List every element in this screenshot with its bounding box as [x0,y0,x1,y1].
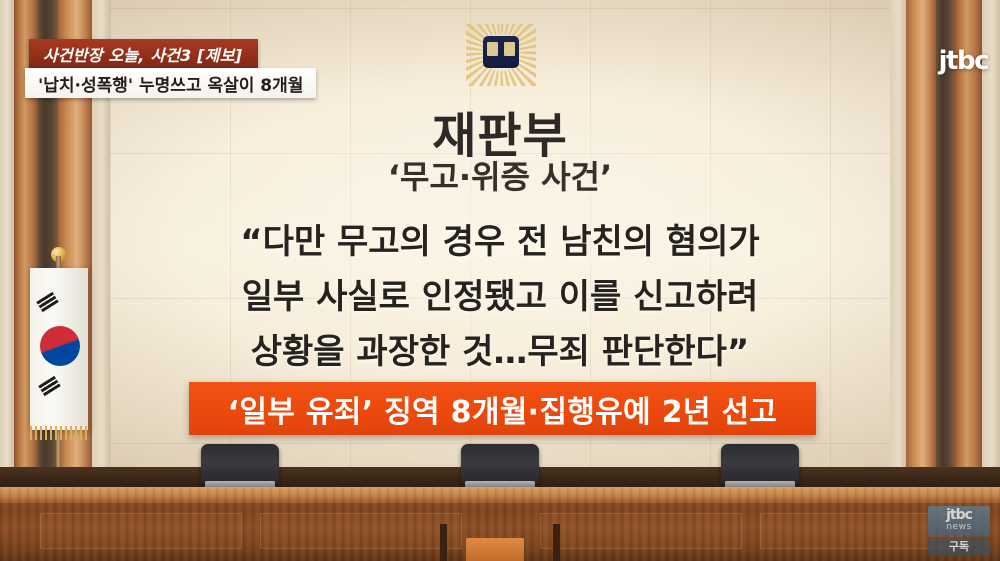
quote-line: “다만 무고의 경우 전 남친의 혐의가 [0,214,1000,263]
program-banner: 사건반장 오늘, 사건3 [제보] [29,39,258,68]
verdict-text: ‘일부 유죄’ 징역 8개월·집행유예 2년 선고 [228,387,778,431]
watermark-jtbc-logo: jtbc [928,509,990,522]
bench-front-panel [540,513,742,549]
broadcast-screenshot: 재판부 ‘무고·위증 사건’ “다만 무고의 경우 전 남친의 혐의가 일부 사… [0,0,1000,561]
court-emblem-shield-icon [483,36,519,68]
story-banner-text: '납치·성폭행' 누명쓰고 옥살이 8개월 [38,71,303,96]
judge-chair [201,444,279,484]
flag-fringe [30,426,88,440]
bench-center-support [553,524,560,561]
bench-center-support [440,524,447,561]
program-banner-text: 사건반장 오늘, 사건3 [제보] [43,42,242,66]
jtbc-logo: jtbc [939,46,988,76]
subscribe-button[interactable]: 구독 [928,537,990,555]
watermark-news-label: news [928,522,990,533]
judge-chair [721,444,799,484]
watermark-logo-box: jtbc news [928,506,990,535]
quote-line: 상황을 과장한 것…무죄 판단한다” [0,324,1000,373]
bench-front-panel [40,513,242,549]
bench-front-panel [260,513,462,549]
case-subtitle: ‘무고·위증 사건’ [0,152,1000,198]
court-emblem [466,24,536,86]
subscribe-watermark[interactable]: jtbc news 구독 [928,506,990,555]
judge-chair [461,444,539,484]
trigram-gon-icon [38,376,60,396]
verdict-banner: ‘일부 유죄’ 징역 8개월·집행유예 2년 선고 [189,382,816,435]
bench-center-plate [466,538,524,561]
story-banner: '납치·성폭행' 누명쓰고 옥살이 8개월 [25,68,316,98]
quote-line: 일부 사실로 인정됐고 이를 신고하려 [0,269,1000,318]
